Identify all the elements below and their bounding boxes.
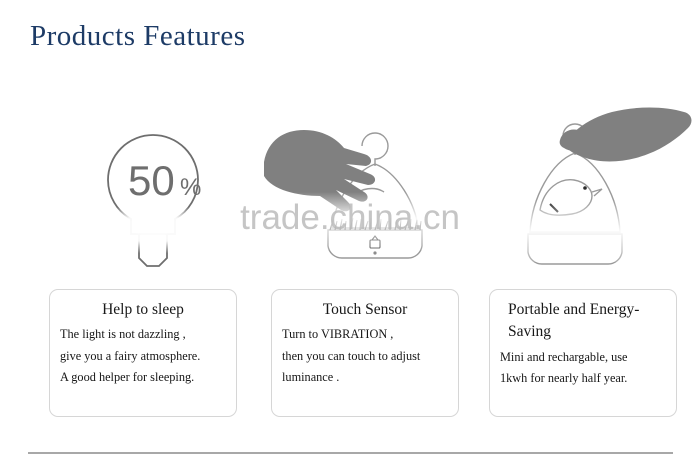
feature-title: Touch Sensor (282, 299, 448, 321)
bottom-divider (28, 452, 673, 454)
feature-line: 1kwh for nearly half year. (500, 368, 666, 389)
feature-box-row: Help to sleep The light is not dazzling … (0, 289, 700, 421)
feature-title: Help to sleep (60, 299, 226, 321)
illustration-touch-lamp (258, 100, 480, 285)
feature-body: Mini and rechargable, use 1kwh for nearl… (500, 347, 666, 389)
page-title: Products Features (30, 20, 246, 53)
feature-line: Turn to VIBRATION , (282, 324, 448, 345)
feature-box-help-to-sleep: Help to sleep The light is not dazzling … (49, 289, 237, 417)
page-canvas: Products Features (0, 0, 700, 468)
feature-line: The light is not dazzling , (60, 324, 226, 345)
illustration-row: 50 % (0, 100, 700, 285)
feature-body: The light is not dazzling , give you a f… (60, 324, 226, 387)
feature-box-portable-energy-saving: Portable and Energy-Saving Mini and rech… (489, 289, 677, 417)
feature-line: A good helper for sleeping. (60, 367, 226, 388)
feature-line: Mini and rechargable, use (500, 347, 666, 368)
feature-box-touch-sensor: Touch Sensor Turn to VIBRATION , then yo… (271, 289, 459, 417)
illustration-light-bulb: 50 % (42, 100, 264, 285)
feature-line: give you a fairy atmosphere. (60, 346, 226, 367)
feature-line: luminance . (282, 367, 448, 388)
illustration-portable-lamp (478, 100, 700, 285)
bulb-percent-value: 50 (128, 157, 175, 204)
feature-body: Turn to VIBRATION , then you can touch t… (282, 324, 448, 387)
bulb-percent-unit: % (180, 174, 201, 201)
feature-line: then you can touch to adjust (282, 346, 448, 367)
feature-title: Portable and Energy-Saving (500, 299, 666, 344)
